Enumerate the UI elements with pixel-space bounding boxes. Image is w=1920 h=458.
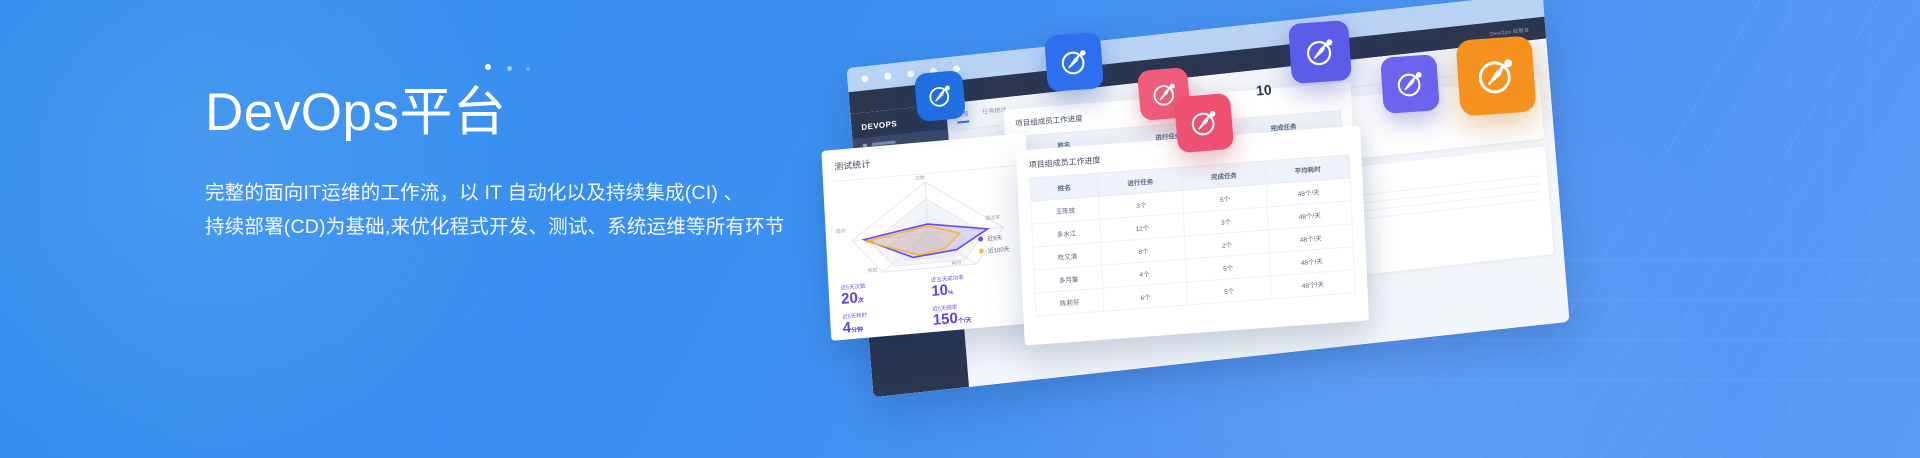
table-cell: 6个 bbox=[1103, 282, 1188, 311]
stat-success-rate: 近五天成功率 10% bbox=[931, 268, 1022, 300]
card-title: 测试统计 bbox=[834, 144, 1015, 173]
devops-hero-banner: DevOps平台 完整的面向IT运维的工作流，以 IT 自动化以及持续集成(CI… bbox=[0, 0, 1920, 458]
stat-count: 近5天次数 20次 bbox=[840, 276, 931, 308]
mockup-big-number: 10 bbox=[1255, 81, 1272, 98]
window-dot-icon bbox=[907, 70, 915, 78]
stat-unit: % bbox=[948, 290, 954, 296]
legend-item-5days: 近5天 bbox=[978, 232, 1009, 244]
legend-swatch bbox=[978, 236, 983, 241]
table-cell: 48个/天 bbox=[1270, 270, 1355, 299]
table-cell: 5个 bbox=[1187, 276, 1272, 305]
browser-topbar-text: DevOps 控制台 bbox=[1490, 26, 1530, 37]
radar-axis-label-2: 耗时 bbox=[951, 259, 961, 267]
hero-subtitle-line-1: 完整的面向IT运维的工作流，以 IT 自动化以及持续集成(CI) 、 bbox=[205, 176, 885, 210]
stat-frequency: 近5天频率 150个/天 bbox=[932, 297, 1023, 329]
window-dot-icon bbox=[884, 72, 892, 80]
stat-number: 150 bbox=[932, 309, 958, 328]
radar-axis-label-0: 次数 bbox=[915, 174, 925, 182]
table-cell: 陈莉芬 bbox=[1035, 288, 1104, 316]
page-title: DevOps平台 bbox=[205, 84, 885, 142]
radar-axis-label-3: 失败 bbox=[868, 267, 878, 275]
radar-axis-label-4: 成功 bbox=[835, 227, 845, 235]
legend-swatch bbox=[979, 248, 984, 253]
stat-duration: 近5天耗时 4分钟 bbox=[842, 304, 933, 336]
dot-icon bbox=[485, 64, 491, 70]
rocket-compass-icon-tile-violet[interactable] bbox=[1380, 54, 1440, 114]
stat-unit: 次 bbox=[858, 298, 864, 305]
rocket-compass-icon-tile-orange[interactable] bbox=[1455, 35, 1536, 116]
test-statistics-card: 测试统计 bbox=[821, 133, 1035, 341]
stat-unit: 分钟 bbox=[851, 327, 863, 334]
rocket-compass-icon-tile-pink[interactable] bbox=[1174, 93, 1235, 154]
rocket-compass-icon-tile-blue-small[interactable] bbox=[914, 70, 966, 122]
hero-subtitle: 完整的面向IT运维的工作流，以 IT 自动化以及持续集成(CI) 、 持续部署(… bbox=[205, 176, 885, 244]
stat-unit: 个/天 bbox=[958, 317, 972, 324]
radar-legend: 近5天 近100天 bbox=[978, 229, 1010, 256]
dot-icon bbox=[507, 66, 512, 71]
dashboard-mockup: DevOps 控制台 DEVOPS bbox=[858, 0, 1918, 458]
window-dot-icon bbox=[861, 75, 869, 83]
rocket-compass-icon-tile-blue[interactable] bbox=[1044, 32, 1104, 92]
radar-chart: 次数 通过率 耗时 失败 成功 近5天 近100天 bbox=[835, 168, 1020, 278]
hero-copy: DevOps平台 完整的面向IT运维的工作流，以 IT 自动化以及持续集成(CI… bbox=[205, 84, 885, 244]
member-progress-table-card: 项目组成员工作进度 姓名 进行任务 完成任务 平均耗时 王陈玫 3个 5个 48… bbox=[1016, 125, 1369, 345]
rocket-compass-icon-tile-purple[interactable] bbox=[1288, 20, 1352, 84]
legend-label: 近5天 bbox=[987, 233, 1003, 243]
progress-table: 姓名 进行任务 完成任务 平均耗时 王陈玫 3个 5个 48个/天 多水江 12… bbox=[1029, 154, 1355, 316]
legend-label: 近100天 bbox=[987, 244, 1009, 255]
stat-number: 10 bbox=[931, 282, 949, 300]
dot-icon bbox=[526, 67, 530, 71]
radar-axis-label-1: 通过率 bbox=[985, 214, 1000, 222]
hero-subtitle-line-2: 持续部署(CD)为基础,来优化程式开发、测试、系统运维等所有环节 bbox=[205, 210, 885, 244]
stat-number: 20 bbox=[841, 289, 859, 307]
